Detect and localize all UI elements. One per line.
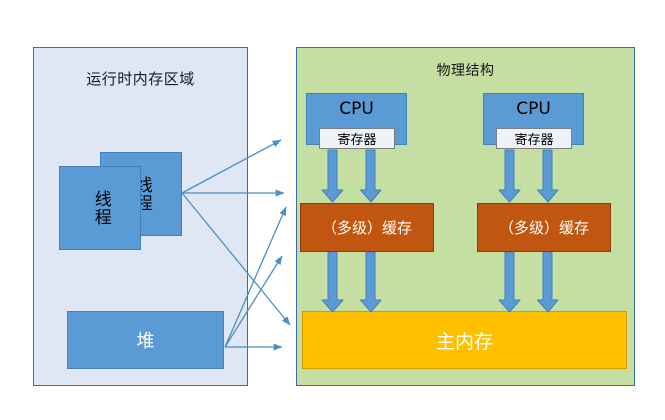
cpu-label-left: CPU <box>339 99 374 119</box>
register-box-left: 寄存器 <box>319 128 395 149</box>
heap-label: 堆 <box>137 327 155 353</box>
register-box-right: 寄存器 <box>496 128 572 149</box>
physical-panel-title: 物理结构 <box>297 60 634 80</box>
heap-box: 堆 <box>67 311 224 369</box>
main-memory-box: 主内存 <box>302 311 627 369</box>
cache-box-left: （多级）缓存 <box>300 203 434 252</box>
cache-label-left: （多级）缓存 <box>322 217 412 238</box>
main-memory-label: 主内存 <box>436 327 493 354</box>
cache-box-right: （多级）缓存 <box>477 203 611 252</box>
register-label-right: 寄存器 <box>514 129 553 148</box>
cache-label-right: （多级）缓存 <box>499 217 589 238</box>
thread-box-front: 线程 <box>59 166 141 250</box>
runtime-panel-title: 运行时内存区域 <box>34 68 247 89</box>
thread-label-front: 线程 <box>90 190 110 226</box>
register-label-left: 寄存器 <box>337 129 376 148</box>
diagram-canvas: 运行时内存区域 线程 线程 堆 物理结构 主内存 <box>0 0 665 420</box>
cpu-label-right: CPU <box>516 99 551 119</box>
